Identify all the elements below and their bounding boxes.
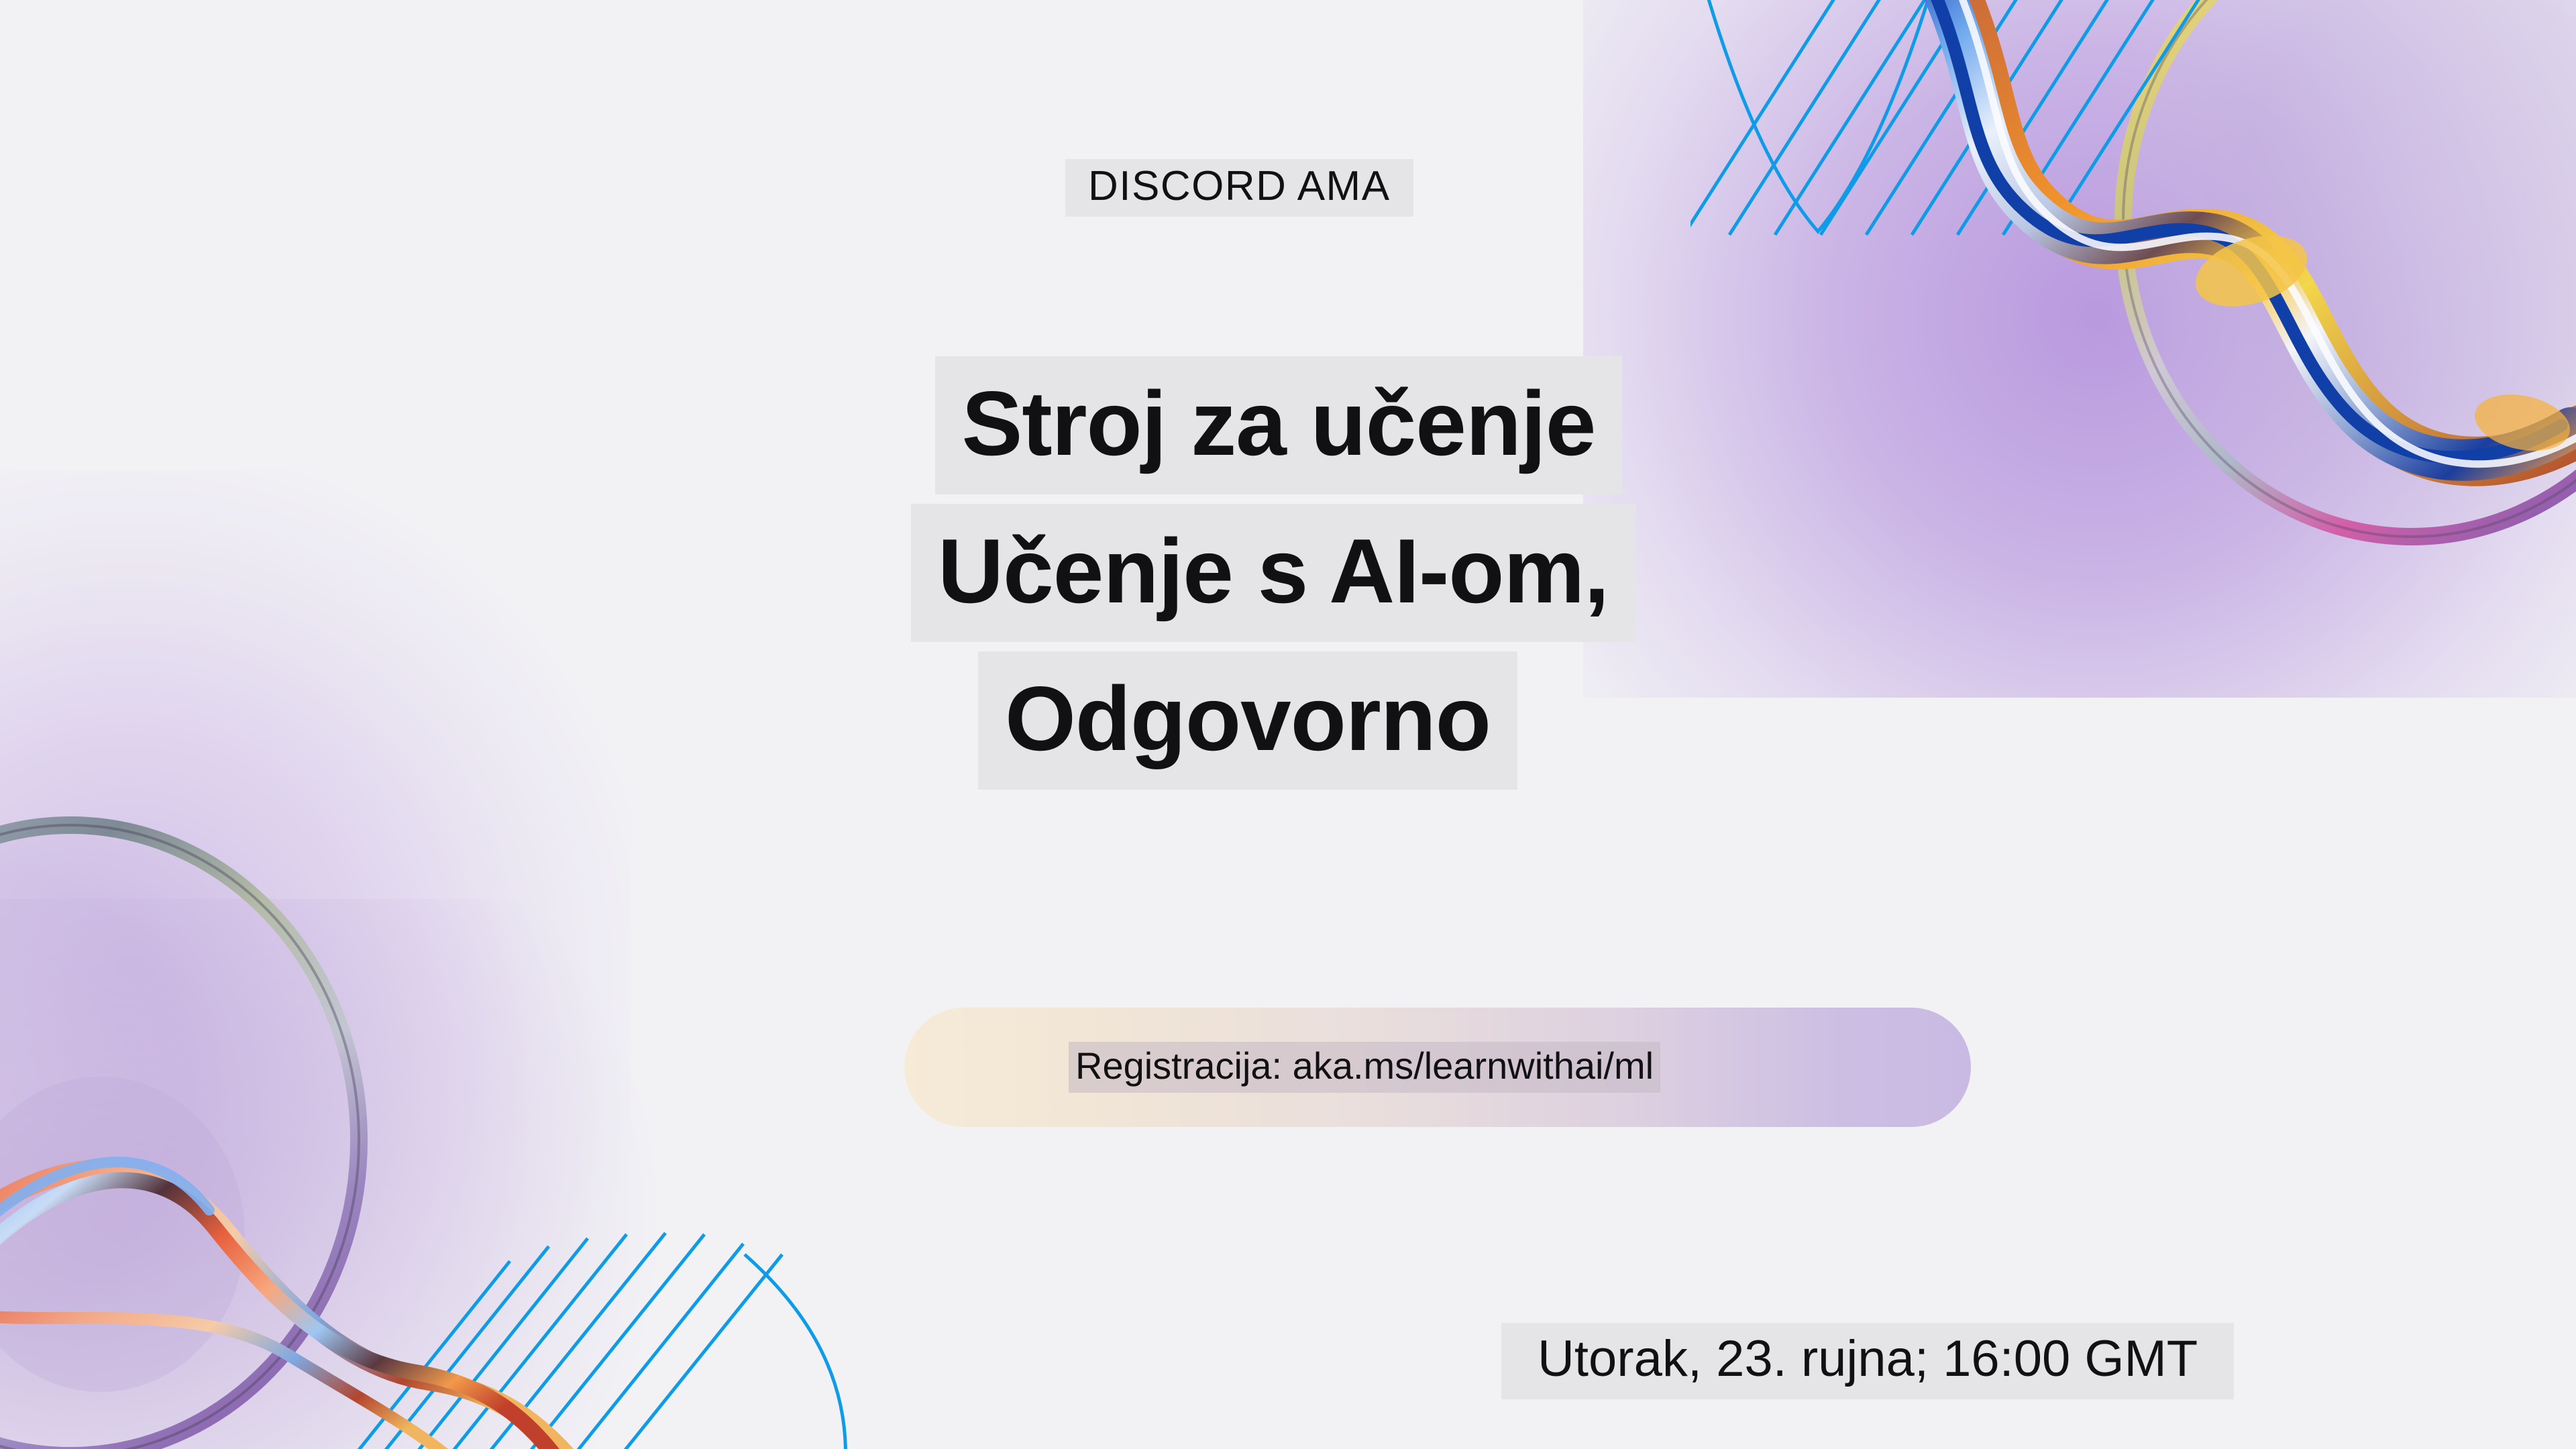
title-line-1: Stroj za učenje (935, 356, 1623, 494)
title-line-3: Odgovorno (978, 651, 1517, 790)
event-slide: DISCORD AMA Stroj za učenje Učenje s AI-… (0, 0, 2576, 1449)
bubble-rim-dark (0, 825, 359, 1449)
bottom-left-purple-glow (0, 899, 657, 1449)
title-line-2: Učenje s AI-om, (911, 504, 1635, 642)
bubble-rim (0, 825, 359, 1449)
title-row-2: Učenje s AI-om, (0, 504, 2576, 642)
cyan-arc-line (1697, 0, 1940, 231)
bubble-body (0, 825, 359, 1449)
bubble-inner-shade (0, 1077, 245, 1392)
ribbon-warm-lower (0, 1169, 584, 1449)
bottom-left-decoration (0, 765, 885, 1449)
ribbon-cross (0, 1315, 470, 1449)
ribbon-blue-highlight (0, 1162, 209, 1245)
ribbon-warm-main (0, 1180, 568, 1449)
eyebrow-label: DISCORD AMA (1065, 159, 1413, 217)
ribbon-yellow-glow (2186, 223, 2316, 319)
cyan-hatch-lines (1690, 0, 2211, 235)
registration-cta-button[interactable]: Registracija: aka.ms/learnwithai/ml (904, 1008, 1971, 1127)
title-row-1: Stroj za učenje (0, 356, 2576, 494)
registration-cta-label: Registracija: aka.ms/learnwithai/ml (1069, 1042, 1660, 1093)
event-date-label: Utorak, 23. rujna; 16:00 GMT (1501, 1323, 2234, 1399)
cyan-arc-line (745, 1254, 846, 1449)
page-title: Stroj za učenje Učenje s AI-om, Odgovorn… (0, 356, 2576, 790)
cyan-hatch-lines (354, 1233, 782, 1449)
title-row-3: Odgovorno (0, 651, 2576, 790)
